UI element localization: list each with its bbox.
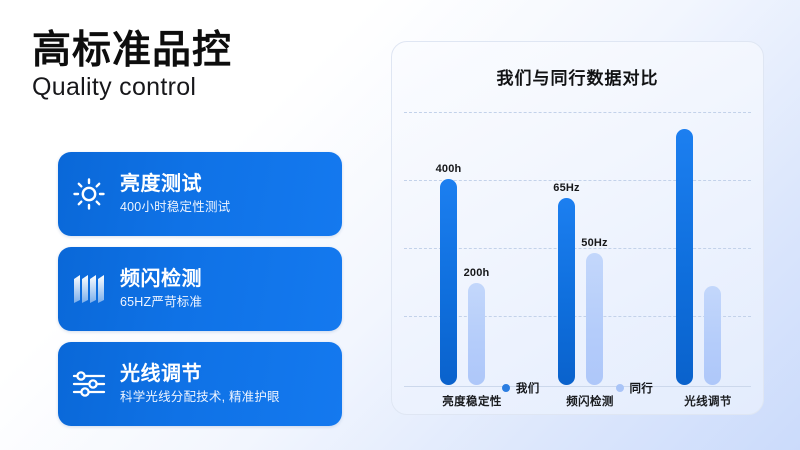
feature-card-text: 光线调节 科学光线分配技术, 精准护眼 — [120, 363, 342, 405]
sliders-icon — [58, 369, 120, 399]
bar-ours[interactable]: 65Hz — [558, 198, 575, 385]
page-title-en: Quality control — [32, 73, 232, 101]
feature-card-brightness[interactable]: 亮度测试 400小时稳定性测试 — [58, 152, 342, 236]
bar-value-peer: 200h — [464, 267, 490, 279]
feature-card-light-adjust[interactable]: 光线调节 科学光线分配技术, 精准护眼 — [58, 342, 342, 426]
feature-card-subtitle: 400小时稳定性测试 — [120, 199, 332, 215]
bar-value-ours: 65Hz — [553, 182, 579, 194]
bar-ours[interactable] — [676, 129, 693, 385]
feature-card-title: 光线调节 — [120, 363, 332, 387]
slats-icon — [58, 273, 120, 305]
bar-value-peer: 50Hz — [581, 237, 607, 249]
bar-peer[interactable]: 50Hz — [586, 253, 603, 385]
feature-card-title: 频闪检测 — [120, 268, 332, 292]
bar-peer[interactable] — [704, 286, 721, 385]
heading-block: 高标准品控 Quality control — [32, 30, 232, 101]
left-column: 高标准品控 Quality control — [0, 0, 370, 450]
comparison-chart-panel: 我们与同行数据对比 400h 200h 亮度稳定性 65Hz 50Hz 频闪检测 — [391, 41, 764, 415]
feature-card-text: 亮度测试 400小时稳定性测试 — [120, 173, 342, 215]
bar-value-ours: 400h — [436, 163, 462, 175]
feature-card-list: 亮度测试 400小时稳定性测试 — [58, 152, 342, 437]
legend-dot-ours — [502, 384, 510, 392]
feature-card-text: 频闪检测 65HZ严苛标准 — [120, 268, 342, 310]
legend-item-ours[interactable]: 我们 — [502, 380, 540, 396]
bar-peer[interactable]: 200h — [468, 283, 485, 385]
feature-card-title: 亮度测试 — [120, 173, 332, 197]
feature-card-flicker[interactable]: 频闪检测 65HZ严苛标准 — [58, 247, 342, 331]
bar-ours[interactable]: 400h — [440, 179, 457, 385]
legend-label-ours: 我们 — [516, 380, 540, 396]
chart-title: 我们与同行数据对比 — [392, 64, 763, 89]
chart-plot-area: 400h 200h 亮度稳定性 65Hz 50Hz 频闪检测 — [404, 112, 751, 387]
feature-card-subtitle: 科学光线分配技术, 精准护眼 — [120, 389, 332, 405]
legend-label-peer: 同行 — [630, 380, 654, 396]
bar-group-flicker: 65Hz 50Hz 频闪检测 — [544, 112, 636, 387]
bar-group-light-adjust: 光线调节 — [662, 112, 754, 387]
legend-item-peer[interactable]: 同行 — [616, 380, 654, 396]
page-title-cn: 高标准品控 — [32, 30, 232, 71]
chart-legend: 我们 同行 — [392, 380, 763, 396]
legend-dot-peer — [616, 384, 624, 392]
sun-icon — [58, 177, 120, 211]
feature-card-subtitle: 65HZ严苛标准 — [120, 294, 332, 310]
bar-group-brightness: 400h 200h 亮度稳定性 — [426, 112, 518, 387]
